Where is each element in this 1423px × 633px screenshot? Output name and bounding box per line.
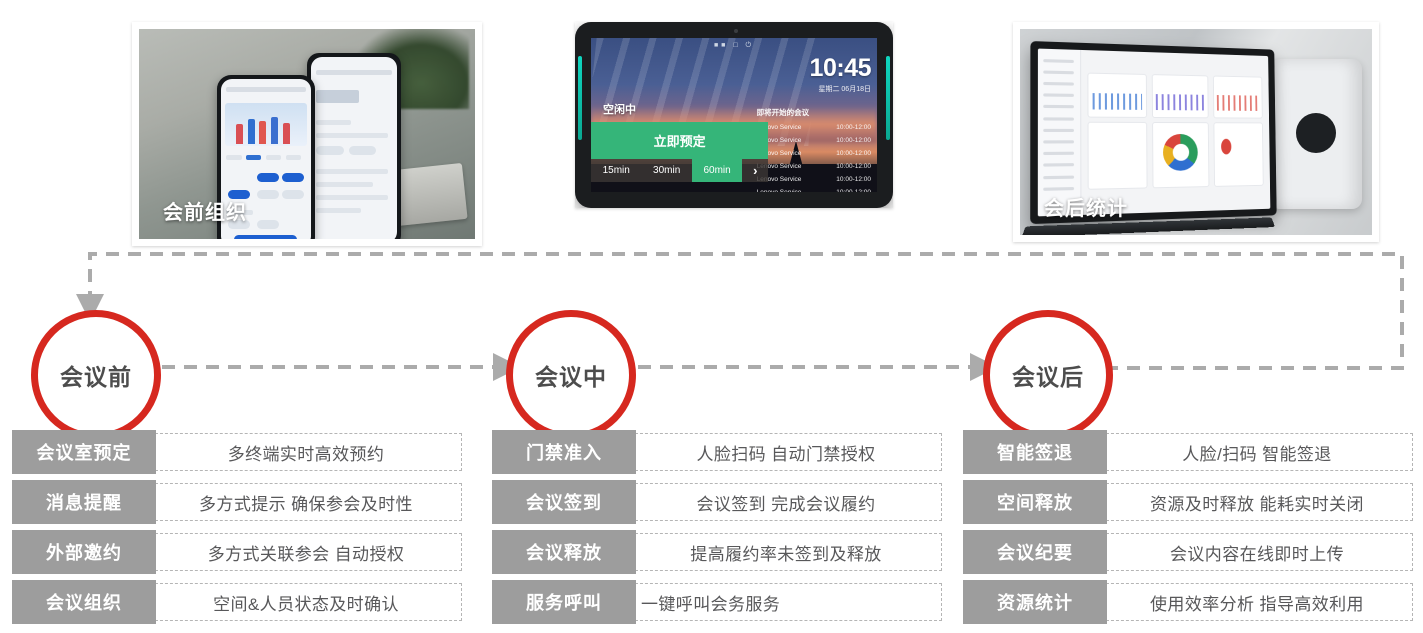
meeting-time: 10:00-12:00: [836, 176, 871, 183]
feature-tag[interactable]: 智能签退: [963, 430, 1107, 474]
feature-row: 会议签到 完成会议履约 会议签到: [492, 480, 942, 524]
feature-column-after: 人脸/扫码 智能签退 智能签退 资源及时释放 能耗实时关闭 空间释放 会议内容在…: [963, 430, 1413, 630]
meeting-list-item: Lenovo Service 10:00-12:00: [757, 189, 871, 192]
feature-description: 人脸扫码 自动门禁授权: [630, 433, 942, 471]
feature-row: 使用效率分析 指导高效利用 资源统计: [963, 580, 1413, 624]
feature-row: 空间&人员状态及时确认 会议组织: [12, 580, 462, 624]
photo-caption-pre: 会前组织: [163, 196, 247, 225]
meeting-list-item: Lenovo Service 10:00-12:00: [757, 124, 871, 131]
feature-tag[interactable]: 服务呼叫: [492, 580, 636, 624]
feature-tag[interactable]: 会议释放: [492, 530, 636, 574]
meeting-list-item: Lenovo Service 10:00-12:00: [757, 163, 871, 170]
feature-row: 人脸/扫码 智能签退 智能签退: [963, 430, 1413, 474]
flow-node-before-label: 会议前: [60, 358, 132, 392]
flow-node-during-label: 会议中: [535, 358, 607, 392]
dashboard-kpi-card: [1088, 73, 1147, 118]
phone-back: [307, 53, 401, 239]
air-purifier-decor: [1270, 59, 1362, 209]
photo-pre-meeting: 会前组织: [132, 22, 482, 246]
feature-description: 会议签到 完成会议履约: [630, 483, 942, 521]
feature-tag[interactable]: 会议室预定: [12, 430, 156, 474]
tablet-booking-panel: 空闲中 立即预定 15min 30min 60min ›: [591, 101, 768, 182]
feature-description: 空间&人员状态及时确认: [150, 583, 462, 621]
dashboard-alert-card: [1213, 123, 1263, 188]
feature-description: 多方式关联参会 自动授权: [150, 533, 462, 571]
dashboard-kpi-card: [1213, 76, 1263, 119]
feature-description: 人脸/扫码 智能签退: [1101, 433, 1413, 471]
feature-column-during: 人脸扫码 自动门禁授权 门禁准入 会议签到 完成会议履约 会议签到 提高履约率未…: [492, 430, 942, 630]
duration-option-15[interactable]: 15min: [591, 159, 641, 182]
duration-option-60[interactable]: 60min: [692, 159, 742, 182]
photo-in-meeting: ■■ □ ⏻ 10:45 星期二 06月18日 即将开始的会议 Lenovo S…: [575, 22, 893, 208]
tablet-info-panel: 10:45 星期二 06月18日 即将开始的会议 Lenovo Service …: [757, 54, 871, 192]
feature-description: 资源及时释放 能耗实时关闭: [1101, 483, 1413, 521]
meeting-time: 10:00-12:00: [836, 189, 871, 192]
flow-node-after-label: 会议后: [1012, 358, 1084, 392]
dashboard-donut-card: [1152, 122, 1209, 188]
feature-column-before: 多终端实时高效预约 会议室预定 多方式提示 确保参会及时性 消息提醒 多方式关联…: [12, 430, 462, 630]
meeting-name: Lenovo Service: [757, 189, 802, 192]
infographic-canvas: 会前组织 ■■ □ ⏻ 10:45 星期二 06月18日 即将开始的会议 Len…: [0, 0, 1423, 633]
meeting-time: 10:00-12:00: [836, 137, 871, 144]
meeting-list-item: Lenovo Service 10:00-12:00: [757, 137, 871, 144]
alert-icon: [1221, 139, 1232, 155]
photo-pre-meeting-image: 会前组织: [139, 29, 475, 239]
donut-chart-icon: [1163, 134, 1198, 171]
meeting-time: 10:00-12:00: [836, 124, 871, 131]
feature-tag[interactable]: 会议签到: [492, 480, 636, 524]
tablet-led-right: [886, 56, 890, 140]
photo-caption-post: 会后统计: [1044, 192, 1128, 221]
feature-row: 多终端实时高效预约 会议室预定: [12, 430, 462, 474]
feature-description: 使用效率分析 指导高效利用: [1101, 583, 1413, 621]
feature-row: 一键呼叫会务服务 服务呼叫: [492, 580, 942, 624]
meeting-list-item: Lenovo Service 10:00-12:00: [757, 150, 871, 157]
flow-connectors: [0, 236, 1423, 426]
dashboard-table-card: [1088, 122, 1148, 190]
feature-row: 多方式提示 确保参会及时性 消息提醒: [12, 480, 462, 524]
meeting-time: 10:00-12:00: [836, 163, 871, 170]
room-status-label: 空闲中: [591, 101, 768, 122]
tablet-clock: 10:45: [757, 54, 871, 83]
feature-row: 资源及时释放 能耗实时关闭 空间释放: [963, 480, 1413, 524]
meeting-time: 10:00-12:00: [836, 150, 871, 157]
feature-description: 多方式提示 确保参会及时性: [150, 483, 462, 521]
feature-tag[interactable]: 外部邀约: [12, 530, 156, 574]
chevron-right-icon[interactable]: ›: [742, 163, 768, 178]
feature-row: 人脸扫码 自动门禁授权 门禁准入: [492, 430, 942, 474]
feature-description: 一键呼叫会务服务: [630, 583, 942, 621]
feature-tag[interactable]: 门禁准入: [492, 430, 636, 474]
feature-row: 提高履约率未签到及释放 会议释放: [492, 530, 942, 574]
photo-post-meeting-image: 会后统计: [1020, 29, 1372, 235]
feature-tag[interactable]: 会议纪要: [963, 530, 1107, 574]
feature-row: 会议内容在线即时上传 会议纪要: [963, 530, 1413, 574]
feature-tag[interactable]: 资源统计: [963, 580, 1107, 624]
phone-hero-illustration: [225, 103, 308, 147]
feature-tag[interactable]: 消息提醒: [12, 480, 156, 524]
tablet-led-left: [578, 56, 582, 140]
tablet-date: 星期二 06月18日: [757, 84, 871, 94]
feature-row: 多方式关联参会 自动授权 外部邀约: [12, 530, 462, 574]
upcoming-meetings-title: 即将开始的会议: [757, 107, 871, 118]
duration-selector[interactable]: 15min 30min 60min ›: [591, 159, 768, 182]
dashboard-kpi-card: [1152, 74, 1209, 118]
feature-tag[interactable]: 会议组织: [12, 580, 156, 624]
feedback-loop-arrow: [90, 254, 1402, 368]
photo-post-meeting: 会后统计: [1013, 22, 1379, 242]
flow-node-before[interactable]: 会议前: [31, 310, 161, 440]
meeting-list-item: Lenovo Service 10:00-12:00: [757, 176, 871, 183]
duration-option-30[interactable]: 30min: [641, 159, 691, 182]
tablet-screen: ■■ □ ⏻ 10:45 星期二 06月18日 即将开始的会议 Lenovo S…: [591, 38, 877, 192]
flow-node-during[interactable]: 会议中: [506, 310, 636, 440]
tablet-status-icons: ■■ □ ⏻: [591, 42, 877, 50]
phone-back-screen: [311, 57, 397, 239]
feature-description: 提高履约率未签到及释放: [630, 533, 942, 571]
feature-description: 会议内容在线即时上传: [1101, 533, 1413, 571]
flow-node-after[interactable]: 会议后: [983, 310, 1113, 440]
feature-tag[interactable]: 空间释放: [963, 480, 1107, 524]
meeting-room-tablet: ■■ □ ⏻ 10:45 星期二 06月18日 即将开始的会议 Lenovo S…: [575, 22, 893, 208]
book-now-button[interactable]: 立即预定: [591, 122, 768, 159]
feature-description: 多终端实时高效预约: [150, 433, 462, 471]
